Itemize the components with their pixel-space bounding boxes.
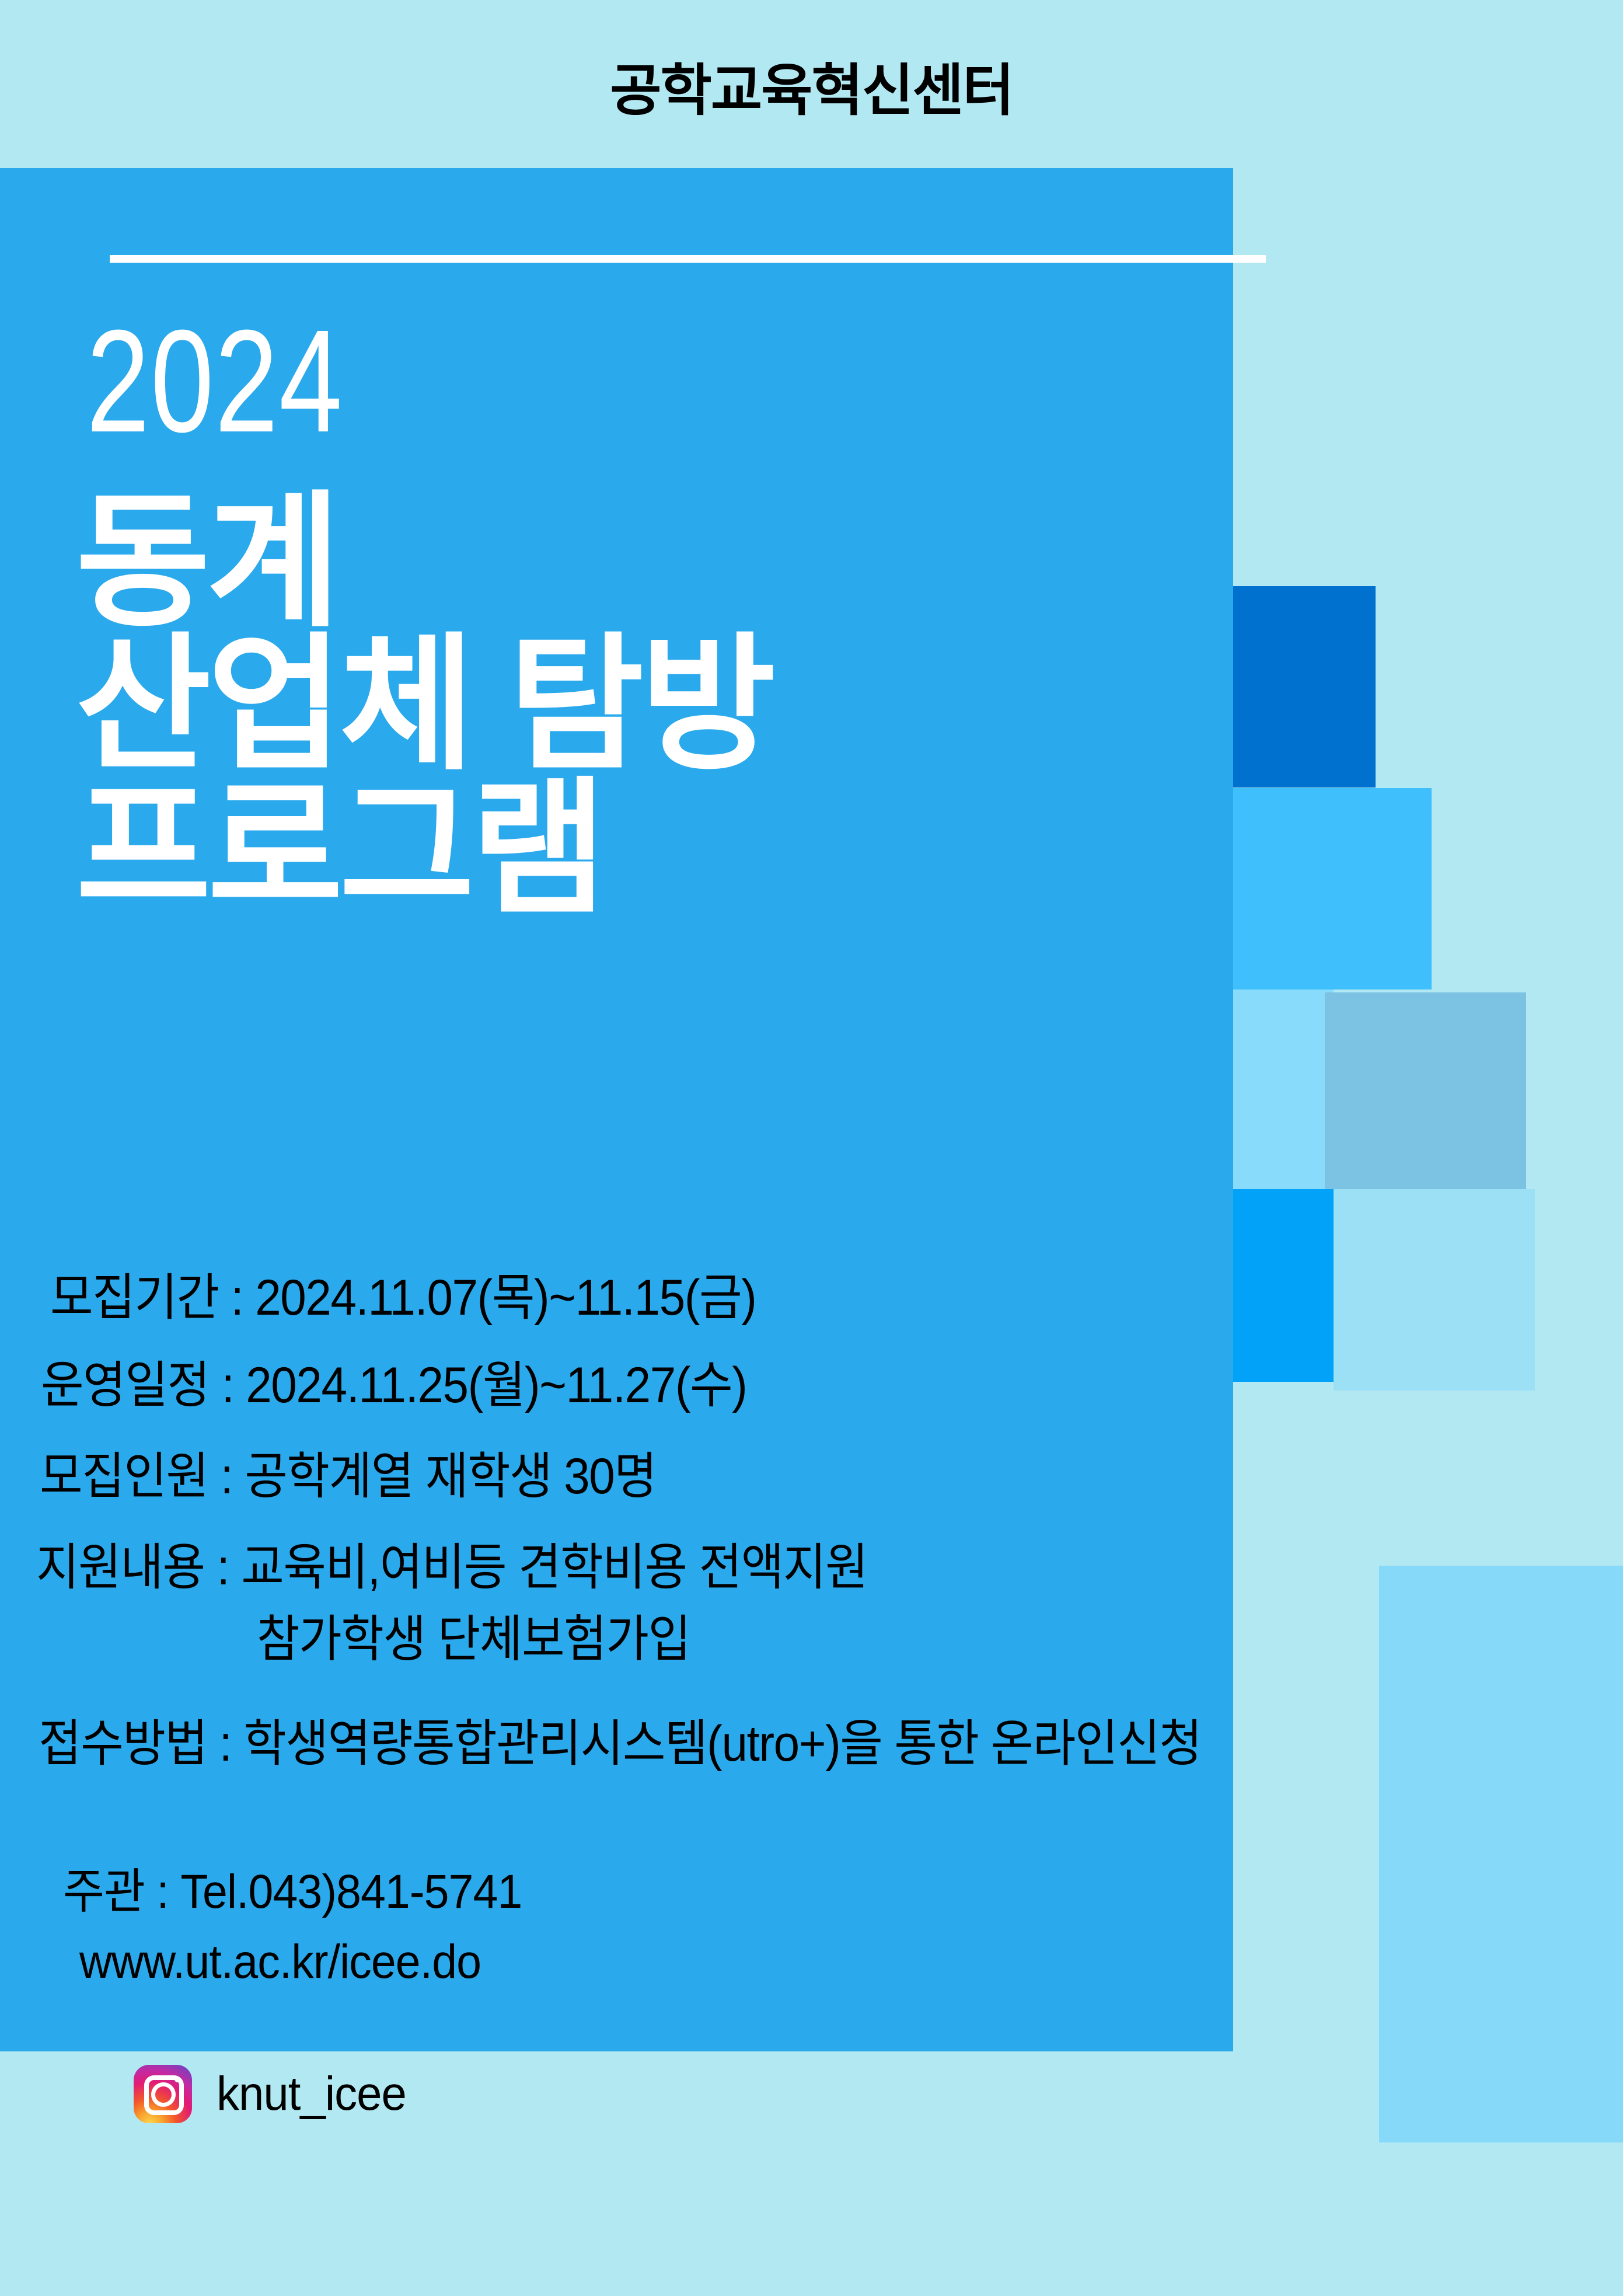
- decorative-square-pale-blue-b: [1334, 1189, 1535, 1391]
- divider-rule: [110, 255, 1266, 263]
- decorative-square-bottom-right: [1379, 1566, 1623, 2142]
- title-line-2: 산업체 탐방: [76, 633, 772, 778]
- contact-phone: 주관 : Tel.043)841-5741: [63, 1868, 522, 1916]
- detail-recruitment-count: 모집인원 : 공학계열 재학생 30명: [40, 1451, 657, 1501]
- page-title: 동계 산업체 탐방 프로그램: [76, 490, 772, 922]
- detail-support-content-2: 참가학생 단체보험가입: [257, 1614, 690, 1664]
- detail-support-content: 지원내용 : 교육비,여비등 견학비용 전액지원: [36, 1542, 867, 1593]
- year-label: 2024: [86, 308, 343, 454]
- detail-application-method: 접수방법 : 학생역량통합관리시스템(utro+)을 통한 온라인신청: [39, 1719, 1201, 1769]
- decorative-square-mid-blue: [1233, 788, 1432, 990]
- instagram-icon[interactable]: [134, 2065, 192, 2123]
- title-line-3: 프로그램: [76, 778, 772, 922]
- detail-recruitment-period: 모집기간 : 2024.11.07(목)~11.15(금): [50, 1273, 756, 1323]
- instagram-dot-shape: [174, 2076, 180, 2082]
- organization-name: 공학교육혁신센터: [0, 63, 1623, 119]
- poster-canvas: 공학교육혁신센터 2024 동계 산업체 탐방 프로그램 모집기간 : 2024…: [0, 0, 1623, 2296]
- social-row[interactable]: knut_icee: [134, 2065, 416, 2123]
- instagram-lens-shape: [151, 2082, 176, 2107]
- detail-program-schedule: 운영일정 : 2024.11.25(월)~11.27(수): [41, 1360, 747, 1410]
- decorative-square-steel-blue: [1325, 992, 1526, 1191]
- instagram-handle[interactable]: knut_icee: [217, 2070, 406, 2118]
- contact-website[interactable]: www.ut.ac.kr/icee.do: [79, 1938, 481, 1986]
- title-line-1: 동계: [76, 490, 772, 633]
